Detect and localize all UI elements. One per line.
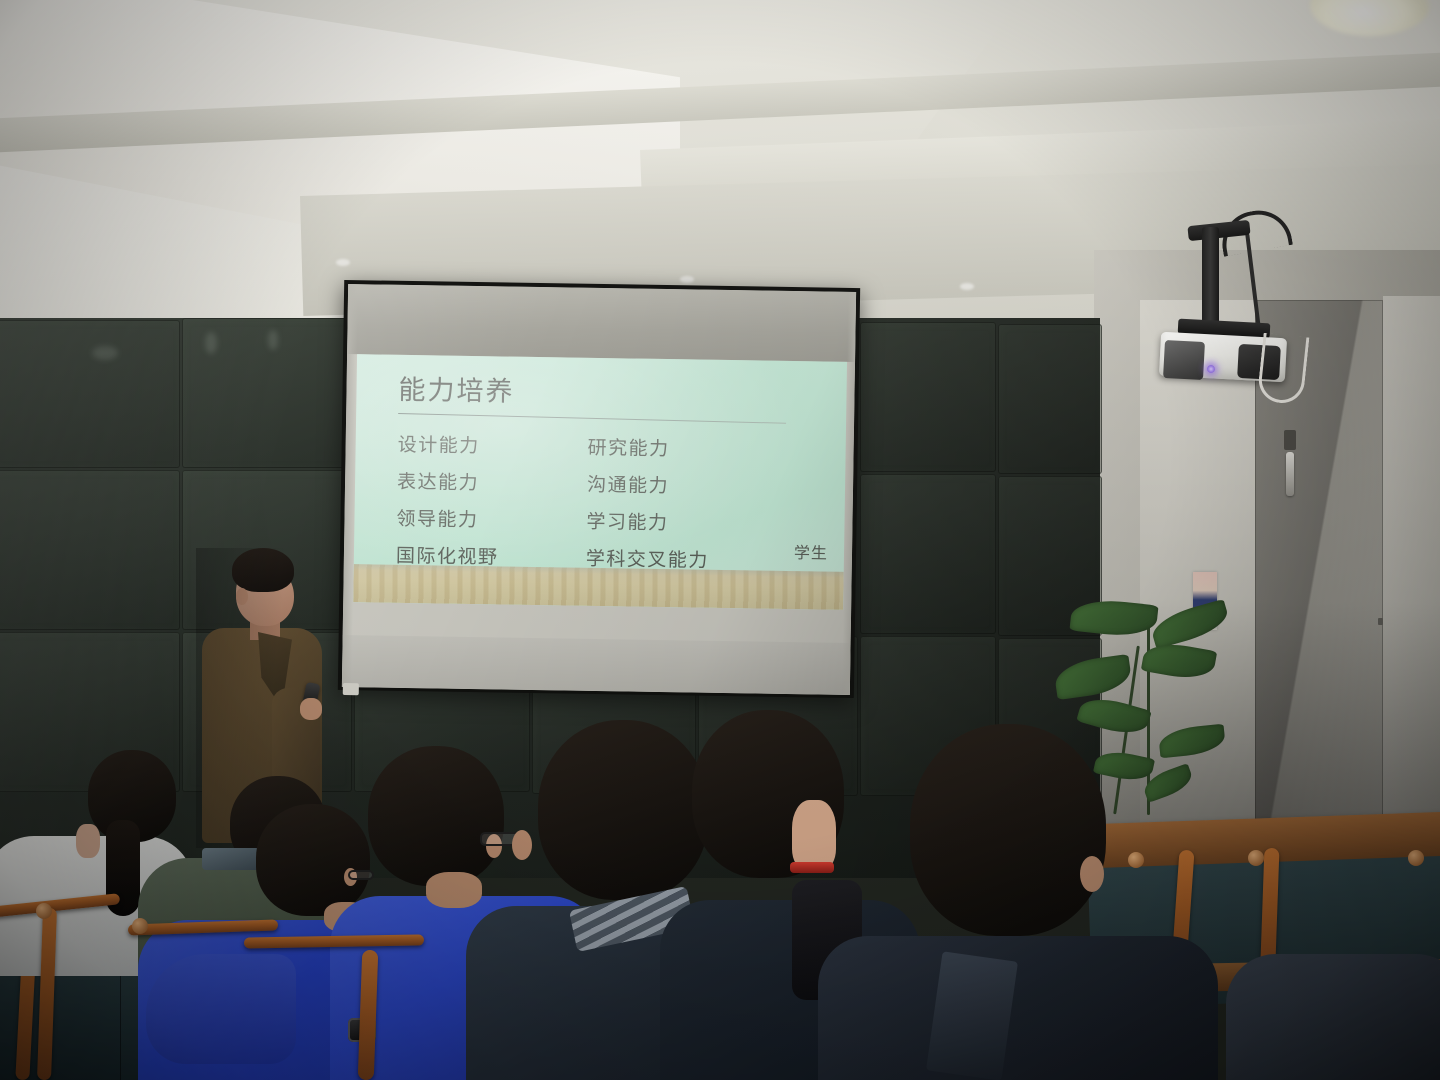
chair-arm-knob [36, 903, 52, 919]
slide-corner-label: 学生 [794, 539, 828, 564]
plant-leaf [1069, 597, 1158, 640]
presenter-hair [232, 548, 294, 592]
plant-leaf [1141, 639, 1217, 683]
person-shoulders [818, 936, 1218, 1080]
slide-cell-left: 领导能力 [396, 504, 586, 534]
projected-slide: 能力培养 设计能力 研究能力 表达能力 沟通能力 领导能力 学习能力 [353, 354, 847, 610]
projector-hanging-cable [1257, 333, 1310, 405]
person-neck [426, 872, 482, 908]
wall-panel [860, 474, 996, 634]
plant-leaf [1053, 654, 1133, 700]
audience-seating-area [0, 700, 1440, 1080]
ceiling-spot-left [336, 259, 350, 266]
plant-leaf [1148, 599, 1231, 649]
screen-pull-tab [343, 683, 359, 695]
screen-surface: 能力培养 设计能力 研究能力 表达能力 沟通能力 领导能力 学习能力 [342, 284, 856, 695]
person-fist [792, 800, 836, 870]
chair-arm-knob [1248, 850, 1264, 866]
slide-row: 表达能力 沟通能力 [397, 462, 798, 505]
slide-row: 设计能力 研究能力 [397, 425, 798, 468]
slide-cell-right: 学习能力 [586, 507, 668, 535]
slide-row: 领导能力 学习能力 [396, 499, 797, 542]
panel-highlight [268, 330, 278, 350]
ceiling-projector [1160, 205, 1340, 405]
wall-panel [860, 322, 996, 472]
lecture-hall-photo: 能力培养 设计能力 研究能力 表达能力 沟通能力 领导能力 学习能力 [0, 0, 1440, 1080]
person-bracelet [790, 862, 834, 873]
audience-person [848, 724, 1208, 1080]
slide-cell-left: 表达能力 [397, 467, 587, 497]
wall-panel [0, 320, 180, 468]
slide-content-columns: 设计能力 研究能力 表达能力 沟通能力 领导能力 学习能力 国际化视野 学科交叉… [396, 425, 798, 579]
chair-arm-knob [1408, 850, 1424, 866]
screen-top-band [347, 284, 856, 362]
chair-arm-knob [132, 918, 148, 934]
person-neck [76, 824, 100, 858]
ceiling-spot-right [960, 283, 974, 290]
screen-bottom-band [342, 635, 851, 695]
person-head [910, 724, 1106, 936]
person-arm [146, 954, 296, 1064]
slide-cell-right: 沟通能力 [587, 470, 669, 498]
slide-cell-right: 研究能力 [587, 433, 669, 461]
panel-highlight [205, 332, 217, 354]
wall-panel [0, 470, 180, 630]
projector-mount-pole [1202, 227, 1219, 327]
person-ear [1080, 856, 1104, 892]
slide-floor-photo-strip [353, 564, 844, 610]
slide-title: 能力培养 [398, 377, 514, 406]
person-shoulders [1226, 954, 1440, 1080]
wall-panel [998, 324, 1102, 474]
slide-title-divider [398, 413, 786, 424]
presenter-ear [236, 588, 248, 605]
slide-cell-left: 设计能力 [397, 430, 587, 460]
person-ear [512, 830, 532, 860]
audience-person [1226, 918, 1440, 1080]
ceiling-spot-mid [680, 276, 694, 283]
projector-lens [1163, 340, 1205, 380]
panel-highlight [92, 346, 118, 360]
projection-screen: 能力培养 设计能力 研究能力 表达能力 沟通能力 领导能力 学习能力 [338, 280, 860, 698]
